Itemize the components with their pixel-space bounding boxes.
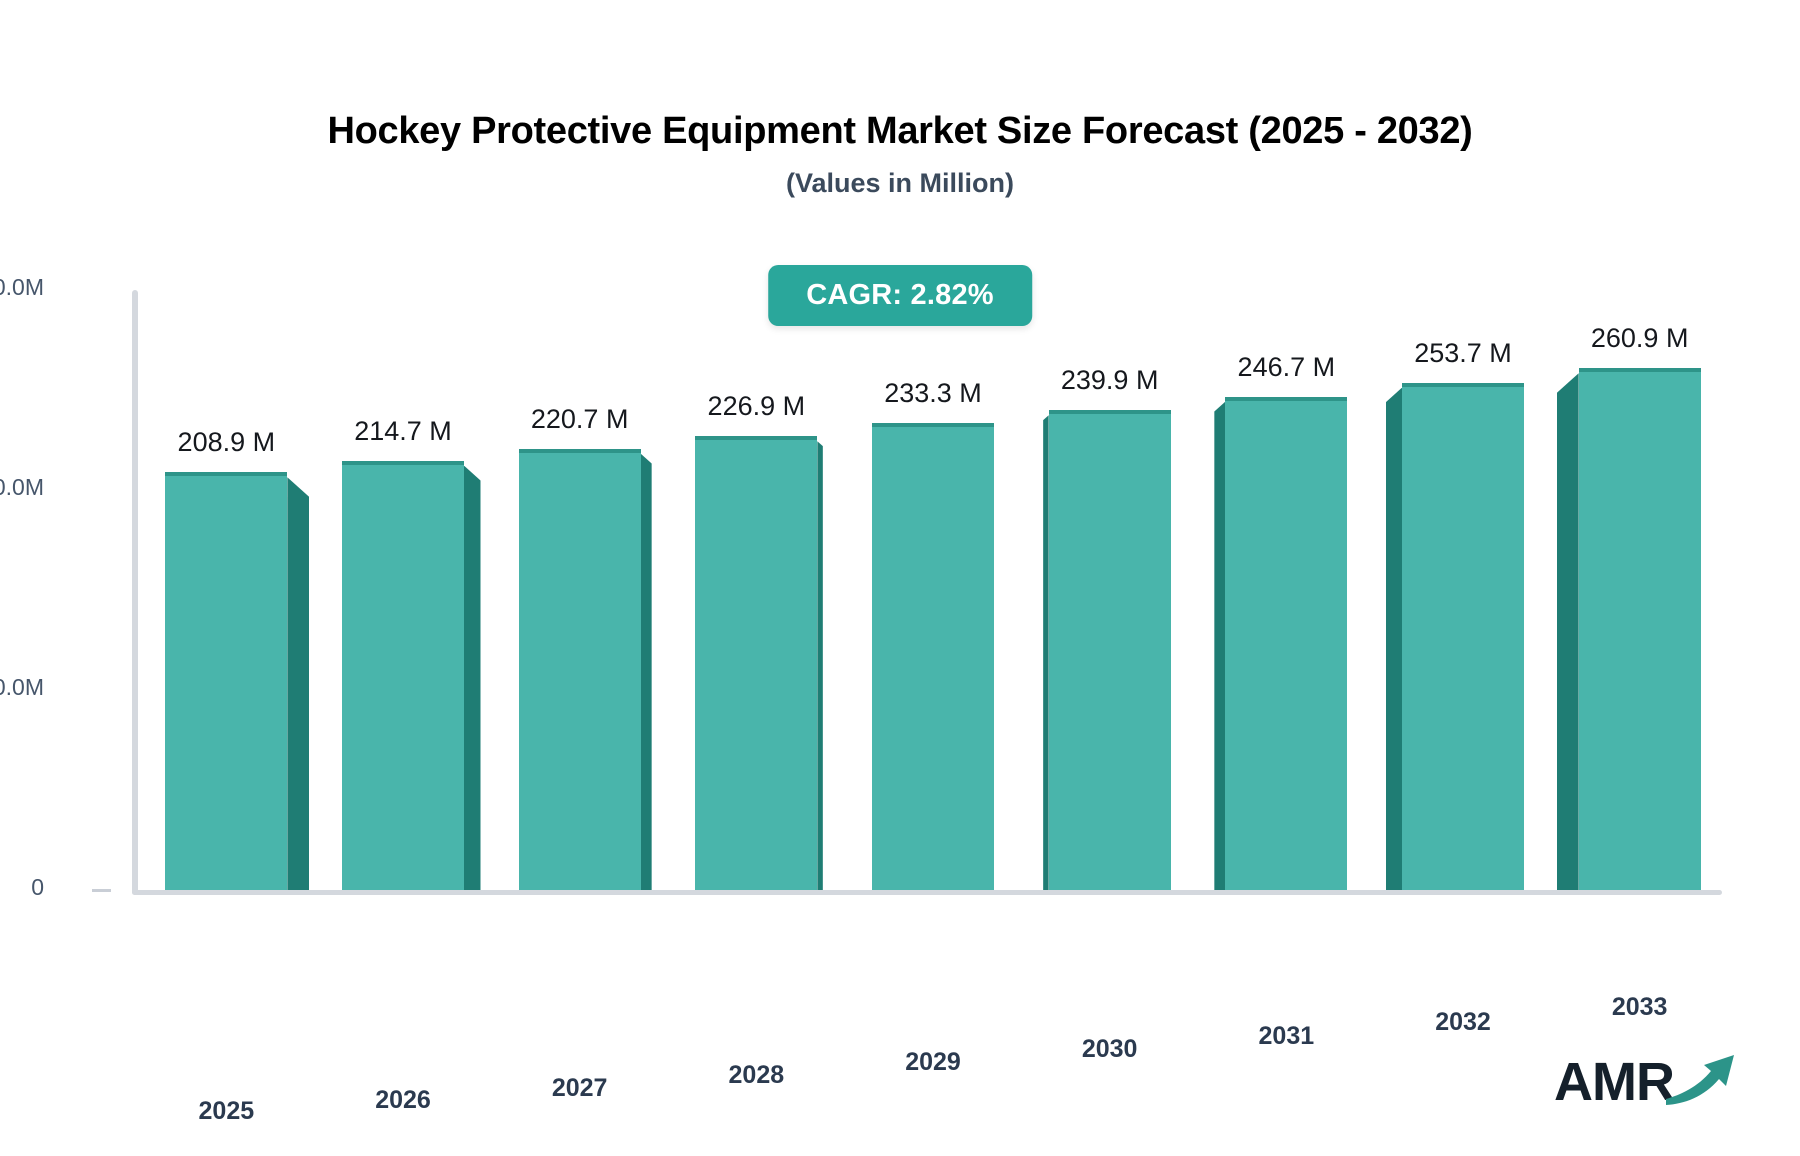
logo-text: AMR	[1554, 1051, 1674, 1113]
y-axis-tick-label: 100.0M	[0, 674, 44, 701]
x-axis-tick-label: 2026	[375, 1086, 431, 1115]
x-axis-tick-label: 2027	[552, 1074, 608, 1103]
bar-value-label: 246.7 M	[1238, 352, 1336, 383]
x-axis-tick-label: 2032	[1435, 1008, 1491, 1037]
bar-side-face	[817, 441, 823, 890]
y-axis-tick-label: 0	[31, 874, 44, 901]
bar-value-label: 214.7 M	[354, 416, 452, 447]
bar-front-face	[519, 449, 641, 890]
bar-2032[interactable]: 253.7 M2032	[1402, 383, 1524, 890]
bar-2029[interactable]: 233.3 M2029	[872, 423, 994, 890]
bar-value-label: 208.9 M	[178, 427, 276, 458]
bar-2030[interactable]: 239.9 M2030	[1049, 410, 1171, 890]
bar-2033[interactable]: 260.9 M2033	[1579, 368, 1701, 890]
amr-logo: AMR	[1554, 1049, 1738, 1114]
growth-arrow-icon	[1664, 1049, 1738, 1110]
bar-2026[interactable]: 214.7 M2026	[342, 461, 464, 890]
bar-front-face	[695, 436, 817, 890]
x-axis-line	[132, 890, 1722, 895]
y-axis-tick-mark	[92, 889, 111, 892]
bar-front-face	[872, 423, 994, 890]
bar-value-label: 233.3 M	[884, 378, 982, 409]
bar-value-label: 253.7 M	[1414, 338, 1512, 369]
x-axis-tick-label: 2029	[905, 1048, 961, 1077]
bar-side-face	[641, 454, 652, 890]
y-axis-tick-label: 300.0M	[0, 274, 44, 301]
bar-2031[interactable]: 246.7 M2031	[1225, 397, 1347, 890]
bar-front-face	[1402, 383, 1524, 890]
bar-front-face	[165, 472, 287, 890]
bar-side-face	[1386, 388, 1403, 890]
chart-canvas: Hockey Protective Equipment Market Size …	[0, 0, 1800, 1156]
bar-front-face	[1579, 368, 1701, 890]
y-axis-tick-label: 200.0M	[0, 474, 44, 501]
bar-side-face	[464, 466, 481, 890]
x-axis-tick-label: 2028	[729, 1061, 785, 1090]
bar-2027[interactable]: 220.7 M2027	[519, 449, 641, 890]
bar-2028[interactable]: 226.9 M2028	[695, 436, 817, 890]
bar-value-label: 260.9 M	[1591, 323, 1689, 354]
page-title: Hockey Protective Equipment Market Size …	[0, 110, 1800, 153]
x-axis-tick-label: 2030	[1082, 1035, 1138, 1064]
bar-side-face	[287, 477, 309, 890]
x-axis-tick-label: 2031	[1259, 1022, 1315, 1051]
bar-series: 208.9 M2025214.7 M2026220.7 M2027226.9 M…	[132, 290, 1722, 890]
bar-side-face	[1214, 402, 1225, 890]
x-axis-tick-label: 2025	[199, 1097, 255, 1126]
bar-front-face	[1049, 410, 1171, 890]
plot-area: 0100.0M200.0M300.0M 208.9 M2025214.7 M20…	[132, 290, 1722, 895]
bar-front-face	[1225, 397, 1347, 890]
bar-value-label: 239.9 M	[1061, 365, 1159, 396]
bar-side-face	[1557, 373, 1579, 890]
chart-subtitle: (Values in Million)	[0, 168, 1800, 199]
bar-2025[interactable]: 208.9 M2025	[165, 472, 287, 890]
bar-value-label: 226.9 M	[708, 391, 806, 422]
bar-front-face	[342, 461, 464, 890]
bar-value-label: 220.7 M	[531, 404, 629, 435]
x-axis-tick-label: 2033	[1612, 993, 1668, 1022]
